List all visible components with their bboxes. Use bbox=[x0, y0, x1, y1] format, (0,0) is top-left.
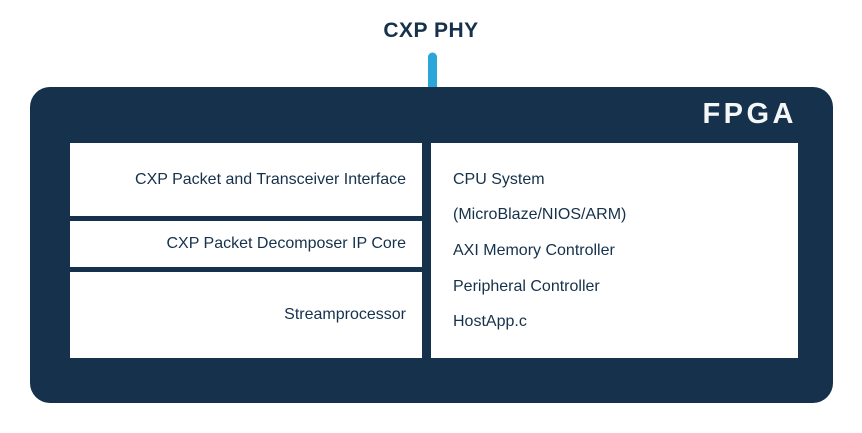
list-item: HostApp.c bbox=[453, 312, 527, 331]
block-label: CXP Packet and Transceiver Interface bbox=[84, 169, 406, 191]
list-item: (MicroBlaze/NIOS/ARM) bbox=[453, 205, 626, 224]
cxp-phy-label: CXP PHY bbox=[0, 20, 862, 41]
left-column: CXP Packet and Transceiver Interface CXP… bbox=[70, 143, 422, 358]
block-cxp-packet-decomposer-ip-core: CXP Packet Decomposer IP Core bbox=[70, 221, 422, 267]
block-label: CXP Packet Decomposer IP Core bbox=[84, 233, 406, 255]
diagram-canvas: CXP PHY FPGA CXP Packet and Transceiver … bbox=[0, 0, 862, 433]
fpga-container: FPGA CXP Packet and Transceiver Interfac… bbox=[30, 87, 833, 403]
list-item: CPU System bbox=[453, 170, 545, 189]
block-streamprocessor: Streamprocessor bbox=[70, 272, 422, 358]
right-column: CPU System (MicroBlaze/NIOS/ARM) AXI Mem… bbox=[431, 143, 798, 358]
block-cxp-packet-transceiver-interface: CXP Packet and Transceiver Interface bbox=[70, 143, 422, 216]
list-item: Peripheral Controller bbox=[453, 277, 600, 296]
fpga-title: FPGA bbox=[702, 100, 797, 129]
block-label: Streamprocessor bbox=[84, 304, 406, 326]
list-item: AXI Memory Controller bbox=[453, 241, 615, 260]
block-cpu-system-panel: CPU System (MicroBlaze/NIOS/ARM) AXI Mem… bbox=[431, 143, 798, 358]
fpga-columns: CXP Packet and Transceiver Interface CXP… bbox=[70, 143, 798, 358]
